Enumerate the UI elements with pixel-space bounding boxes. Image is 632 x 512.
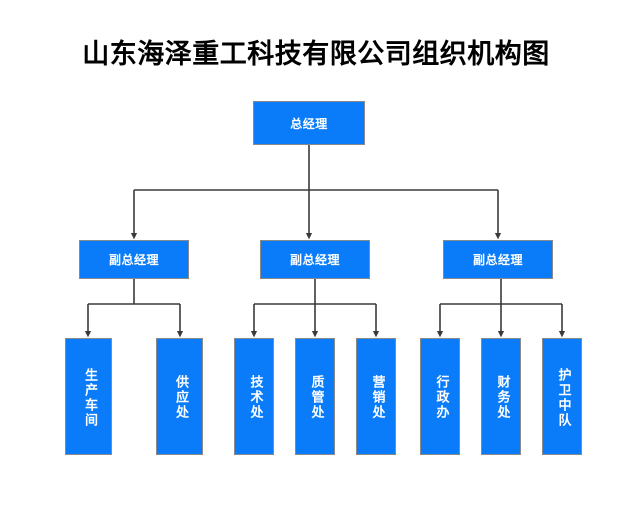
org-node-marketing-department[interactable]: 营销处 <box>356 338 396 455</box>
org-node-label: 行政办 <box>433 375 448 420</box>
org-node-supply-department[interactable]: 供应处 <box>156 338 203 455</box>
org-node-quality-management-department[interactable]: 质管处 <box>295 338 335 455</box>
org-node-deputy-manager-1[interactable]: 副总经理 <box>79 240 189 279</box>
org-node-label: 护卫中队 <box>555 368 570 428</box>
org-node-deputy-manager-3[interactable]: 副总经理 <box>443 240 553 279</box>
org-node-label: 生产车间 <box>81 368 96 428</box>
org-node-label: 副总经理 <box>473 251 523 268</box>
org-node-finance-department[interactable]: 财务处 <box>481 338 521 455</box>
org-chart-canvas: 山东海泽重工科技有限公司组织机构图 <box>0 0 632 512</box>
org-node-general-manager[interactable]: 总经理 <box>253 101 365 145</box>
page-title: 山东海泽重工科技有限公司组织机构图 <box>0 32 632 71</box>
org-node-label: 营销处 <box>369 375 384 420</box>
org-node-deputy-manager-2[interactable]: 副总经理 <box>260 240 370 279</box>
org-node-label: 质管处 <box>308 375 323 420</box>
org-node-production-workshop[interactable]: 生产车间 <box>65 338 112 455</box>
org-node-label: 财务处 <box>494 375 509 420</box>
org-node-label: 副总经理 <box>109 251 159 268</box>
org-node-label: 总经理 <box>290 115 328 132</box>
org-node-label: 副总经理 <box>290 251 340 268</box>
org-node-label: 技术处 <box>247 375 262 420</box>
org-node-security-squad[interactable]: 护卫中队 <box>542 338 582 455</box>
org-node-label: 供应处 <box>172 375 187 420</box>
org-node-administration-office[interactable]: 行政办 <box>420 338 460 455</box>
org-node-technology-department[interactable]: 技术处 <box>234 338 274 455</box>
